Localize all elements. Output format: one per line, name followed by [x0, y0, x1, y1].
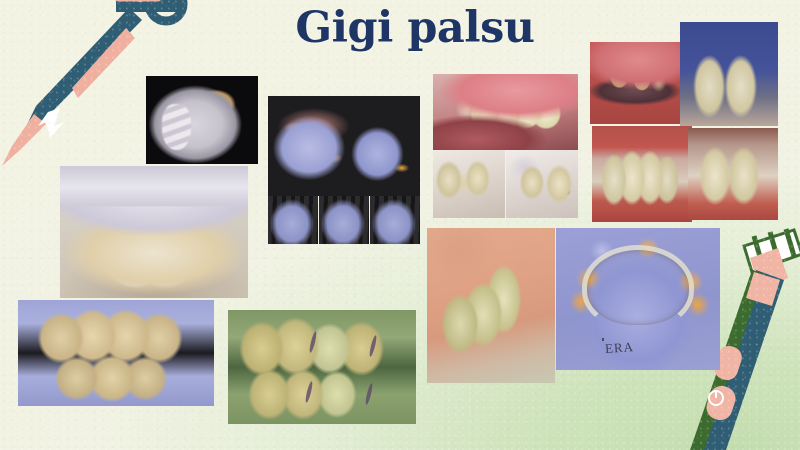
photo-blue-cast-hand-2 — [319, 196, 369, 244]
photo-partial-denture-framework: ERA — [556, 228, 720, 370]
photo-blue-casts-gold-crowns — [268, 96, 420, 196]
photo-intraoral-lateral-teeth — [433, 74, 578, 150]
photo-complete-denture-blue-cast — [18, 300, 214, 406]
photo-crowns-on-blue-background — [680, 22, 778, 126]
photo-stone-model-bridge — [427, 228, 555, 383]
slide-canvas: Gigi palsu ERA — [0, 0, 800, 450]
tooth-marking — [368, 335, 377, 357]
page-title: Gigi palsu — [270, 6, 560, 51]
tooth-marking — [365, 383, 374, 405]
photo-denture-teeth-green-tint — [228, 310, 416, 424]
framework-inscription: ERA — [605, 339, 635, 357]
photo-crowns-seated-closeup — [688, 128, 778, 220]
photo-wax-model-central-crowns — [60, 166, 248, 298]
photo-blue-cast-hand-1 — [268, 196, 318, 244]
photo-crown-preparation-right — [506, 150, 578, 218]
photo-prepared-tooth-stumps — [590, 42, 688, 124]
photo-blue-cast-hand-3 — [370, 196, 420, 244]
photo-crowns-seated-in-mouth — [592, 126, 692, 222]
tooth-marking — [304, 381, 313, 403]
photo-upper-cast-black-bg — [146, 76, 258, 164]
photo-crown-preparation-left — [433, 150, 505, 218]
tooth-marking — [308, 330, 317, 352]
